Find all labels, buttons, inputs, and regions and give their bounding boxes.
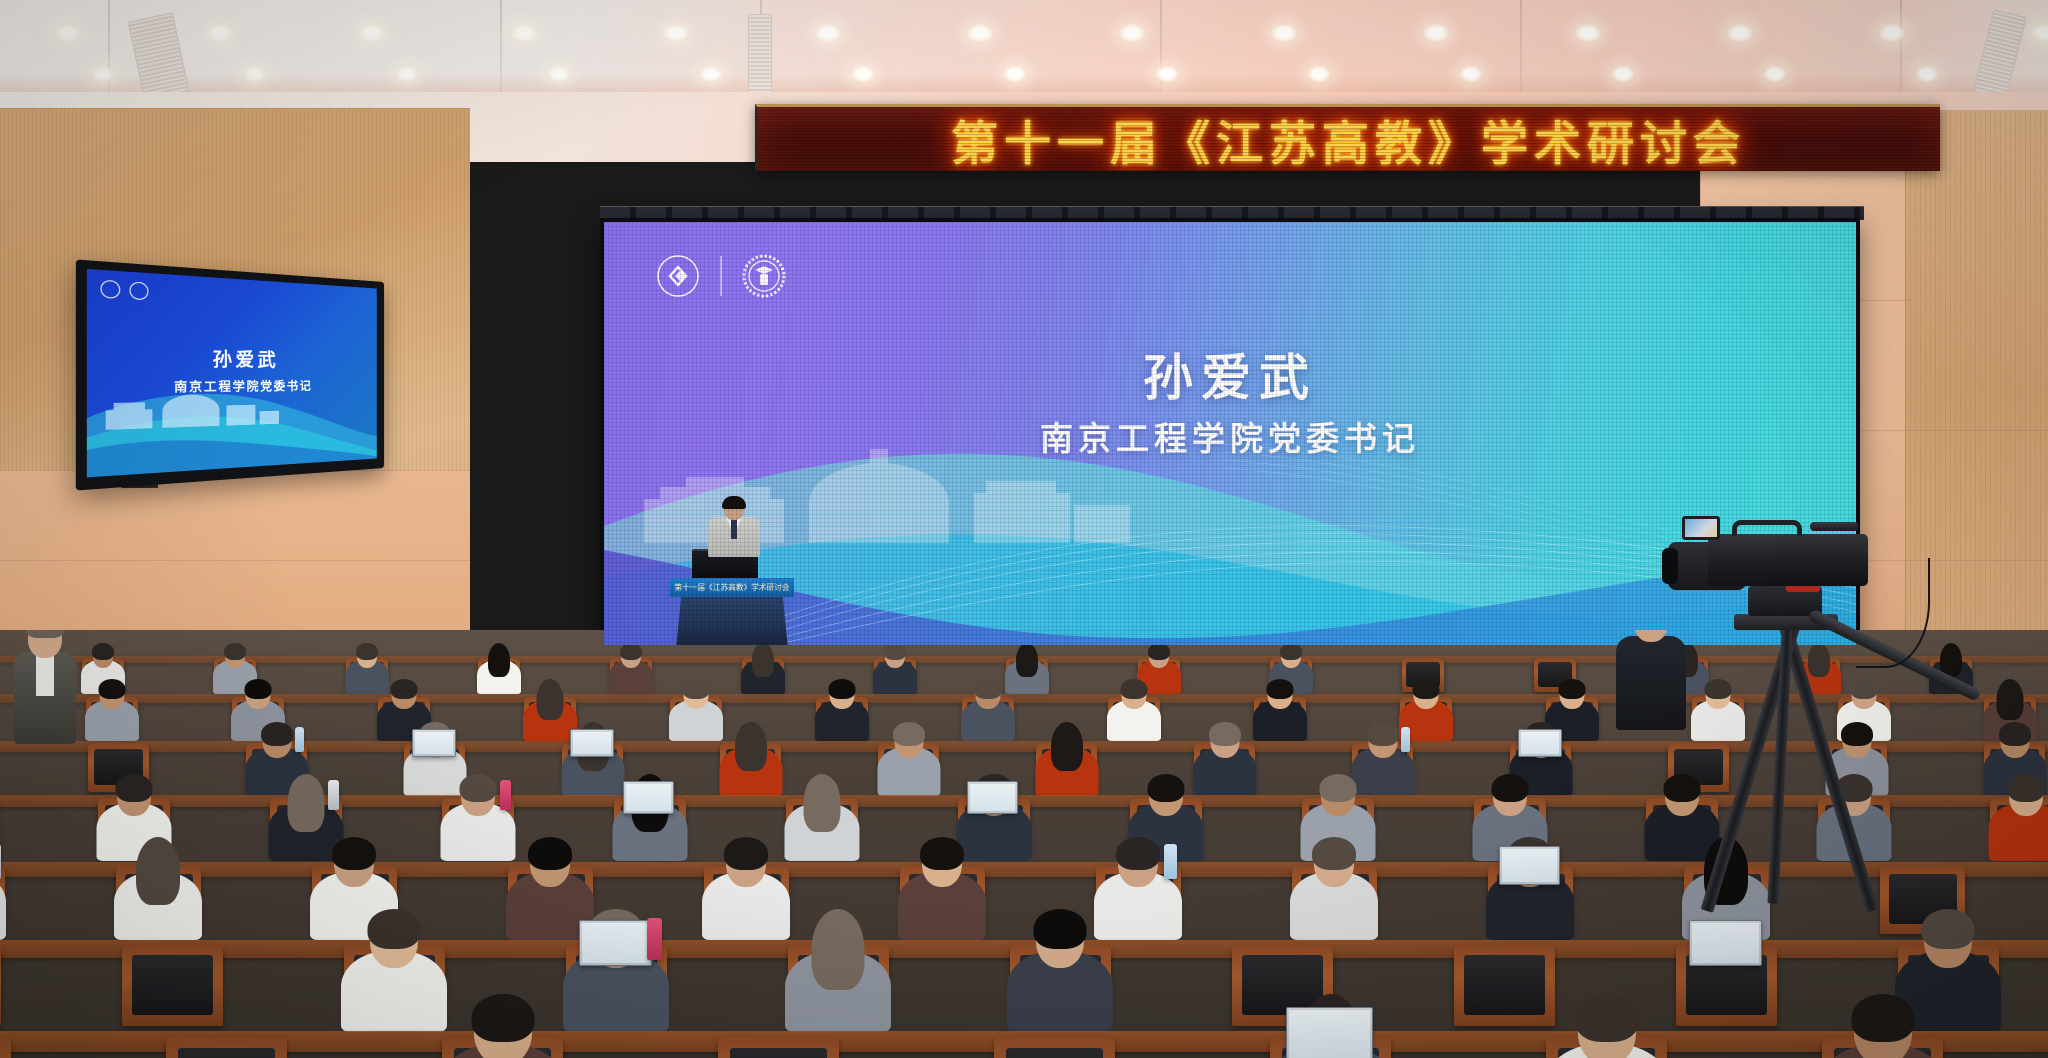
wall-seam [0, 108, 470, 109]
audience-chair[interactable] [122, 945, 223, 1026]
audience-laptop[interactable] [1499, 846, 1560, 885]
nanjing-institute-of-technology-emblem [742, 254, 786, 298]
downlight [1460, 66, 1482, 82]
person-hair [1997, 679, 2024, 720]
audience-person [781, 907, 895, 1026]
audience-laptop[interactable] [570, 729, 614, 757]
ceiling-seam [1900, 0, 1902, 100]
downlight [207, 24, 233, 42]
person-hair [1367, 722, 1399, 746]
person-hair [683, 679, 710, 699]
standing-person-shirt [36, 656, 54, 696]
podium-banner: 第十一届《江苏高教》学术研讨会 [670, 578, 794, 597]
person-hair [893, 722, 925, 746]
audience-person [1286, 835, 1382, 934]
person-hair [724, 837, 768, 870]
downlight [1271, 24, 1297, 42]
audience-laptop[interactable] [579, 920, 652, 966]
person-hair [528, 837, 572, 870]
audience-person [871, 642, 919, 692]
person-hair [115, 774, 152, 802]
audience-chair[interactable] [994, 1036, 1115, 1058]
podium-body [676, 581, 788, 645]
person-hair [1016, 643, 1038, 677]
standing-attendee-left [8, 630, 82, 742]
person-hair [287, 774, 324, 832]
audience-person [1814, 991, 1951, 1058]
side-monitor-speaker-name: 孙爱武 [87, 340, 377, 372]
slide-speaker-title: 南京工程学院党委书记 [604, 412, 1856, 460]
downlight [396, 66, 418, 82]
person-hair [92, 643, 114, 660]
slide-logos [656, 254, 786, 298]
audience-person [1251, 678, 1309, 738]
ceiling [0, 0, 2048, 100]
water-bottle[interactable] [500, 780, 511, 810]
person-hair [1209, 722, 1241, 746]
water-bottle[interactable] [328, 780, 339, 810]
downlight [1575, 24, 1601, 42]
audience-chair[interactable] [166, 1036, 287, 1058]
person-hair [1575, 994, 1638, 1042]
person-hair [1121, 679, 1148, 699]
audience-person [475, 642, 523, 692]
downlight [852, 66, 874, 82]
person-hair [1267, 679, 1294, 699]
chair-cushion [730, 1048, 827, 1058]
side-monitor: 孙爱武 南京工程学院党委书记 [76, 259, 384, 490]
downlight [1156, 66, 1178, 82]
audience-person [0, 835, 10, 934]
person-hair [1034, 909, 1087, 949]
person-hair [356, 643, 378, 660]
downlight [55, 24, 81, 42]
conference-hall-scene: 第十一届《江苏高教》学术研讨会 [0, 0, 2048, 1058]
water-bottle[interactable] [295, 727, 304, 752]
audience-person [1985, 772, 2048, 856]
audience-person [894, 835, 990, 934]
person-hair [752, 643, 774, 677]
downlight [663, 24, 689, 42]
person-torso [0, 872, 6, 940]
downlight [1764, 66, 1786, 82]
ceiling-seam [500, 0, 502, 100]
person-hair [1491, 774, 1528, 802]
audience-laptop[interactable] [623, 781, 674, 814]
standing-person-hair [26, 630, 64, 638]
downlight [967, 24, 993, 42]
audience-person [959, 678, 1017, 738]
person-hair [136, 837, 180, 905]
downlight [359, 24, 385, 42]
camera-body [1708, 534, 1868, 586]
person-hair [261, 722, 293, 746]
audience-laptop[interactable] [412, 729, 456, 757]
speaker-hair [722, 496, 746, 509]
audience-chair[interactable] [718, 1036, 839, 1058]
person-hair [1116, 837, 1160, 870]
person-hair [537, 679, 564, 720]
chair-cushion [132, 955, 213, 1015]
tripod-leg-center [1767, 624, 1793, 904]
podium: 第十一届《江苏高教》学术研讨会 [664, 521, 800, 645]
person-hair [488, 643, 510, 677]
audience-person [1003, 907, 1117, 1026]
person-hair [884, 643, 906, 660]
downlight [244, 66, 266, 82]
audience-person [1538, 991, 1675, 1058]
person-hair [368, 909, 421, 949]
person-hair [1851, 994, 1914, 1042]
person-hair [735, 722, 767, 771]
person-hair [803, 774, 840, 832]
person-hair [1051, 722, 1083, 771]
audience-person [813, 678, 871, 738]
side-logo-nit-icon [129, 281, 148, 300]
water-bottle[interactable] [1401, 727, 1410, 752]
audience-person [83, 678, 141, 738]
person-hair [471, 994, 534, 1042]
camera-top-handle [1732, 520, 1802, 536]
downlight [1423, 24, 1449, 42]
audience-person [1032, 721, 1101, 792]
person-hair [245, 679, 272, 699]
chair-cushion [178, 1048, 275, 1058]
downlight [1612, 66, 1634, 82]
camera-flip-screen [1682, 516, 1720, 540]
person-hair [920, 837, 964, 870]
audience-laptop[interactable] [967, 781, 1018, 814]
person-hair [332, 837, 376, 870]
person-hair [224, 643, 246, 660]
downlight [1308, 66, 1330, 82]
audience-person [716, 721, 785, 792]
audience-person [607, 642, 655, 692]
downlight [1727, 24, 1753, 42]
downlight [815, 24, 841, 42]
person-hair [620, 643, 642, 660]
led-banner: 第十一届《江苏高教》学术研讨会 [755, 104, 1940, 171]
wall-seam [0, 560, 470, 561]
speaker-body [708, 517, 760, 557]
speaker-shirt [726, 518, 742, 534]
audience-laptop[interactable] [1286, 1007, 1373, 1058]
water-bottle[interactable] [1164, 844, 1177, 879]
audience-person [739, 642, 787, 692]
downlight [511, 24, 537, 42]
person-hair [2007, 774, 2044, 802]
podium-banner-text: 第十一届《江苏高教》学术研讨会 [674, 582, 789, 593]
ceiling-seam [108, 0, 110, 100]
side-logo-jiangsu-icon [100, 280, 120, 299]
person-hair [1147, 774, 1184, 802]
downlight [1916, 66, 1938, 82]
jiangsu-higher-education-logo [656, 254, 700, 298]
person-hair [1559, 679, 1586, 699]
chair-cushion [1464, 955, 1545, 1015]
water-bottle[interactable] [647, 918, 662, 960]
speaker-tie [731, 519, 737, 539]
audience-person [434, 991, 571, 1058]
ceiling-seam [1160, 0, 1162, 100]
person-hair [812, 909, 865, 990]
person-hair [829, 679, 856, 699]
campus-silhouette-graphic [634, 447, 1154, 577]
person-hair [1148, 643, 1170, 660]
person-hair [1319, 774, 1356, 802]
camera-microphone [1810, 522, 1858, 531]
chair-cushion [1006, 1048, 1103, 1058]
person-hair [1280, 643, 1302, 660]
person-torso [0, 1044, 14, 1058]
speaker-person [708, 498, 760, 554]
person-hair [1312, 837, 1356, 870]
downlight [1119, 24, 1145, 42]
downlight [700, 66, 722, 82]
downlight [92, 66, 114, 82]
slide-speaker-name: 孙爱武 [604, 338, 1856, 410]
person-hair [1413, 679, 1440, 699]
audience-laptop[interactable] [1518, 729, 1562, 757]
video-camera-rig [1660, 512, 1960, 932]
audience-person [874, 721, 943, 792]
podium-laptop [692, 549, 758, 579]
downlight [548, 66, 570, 82]
speaker-head [724, 498, 744, 520]
led-banner-text: 第十一届《江苏高教》学术研讨会 [951, 105, 1746, 172]
audience-person [110, 835, 206, 934]
audience-person [1105, 678, 1163, 738]
downlight [1879, 24, 1905, 42]
person-hair [459, 774, 496, 802]
logo-divider [720, 256, 722, 296]
audience-person [0, 991, 19, 1058]
downlight [1004, 66, 1026, 82]
ceiling-seam [1520, 0, 1522, 100]
person-hair [391, 679, 418, 699]
water-bottle[interactable] [0, 844, 1, 879]
person-hair [975, 679, 1002, 699]
camera-cable [1856, 558, 1930, 668]
side-monitor-screen: 孙爱武 南京工程学院党委书记 [87, 269, 377, 478]
person-hair [1999, 722, 2031, 746]
audience-person [698, 835, 794, 934]
side-monitor-logos [100, 280, 148, 301]
person-hair [99, 679, 126, 699]
